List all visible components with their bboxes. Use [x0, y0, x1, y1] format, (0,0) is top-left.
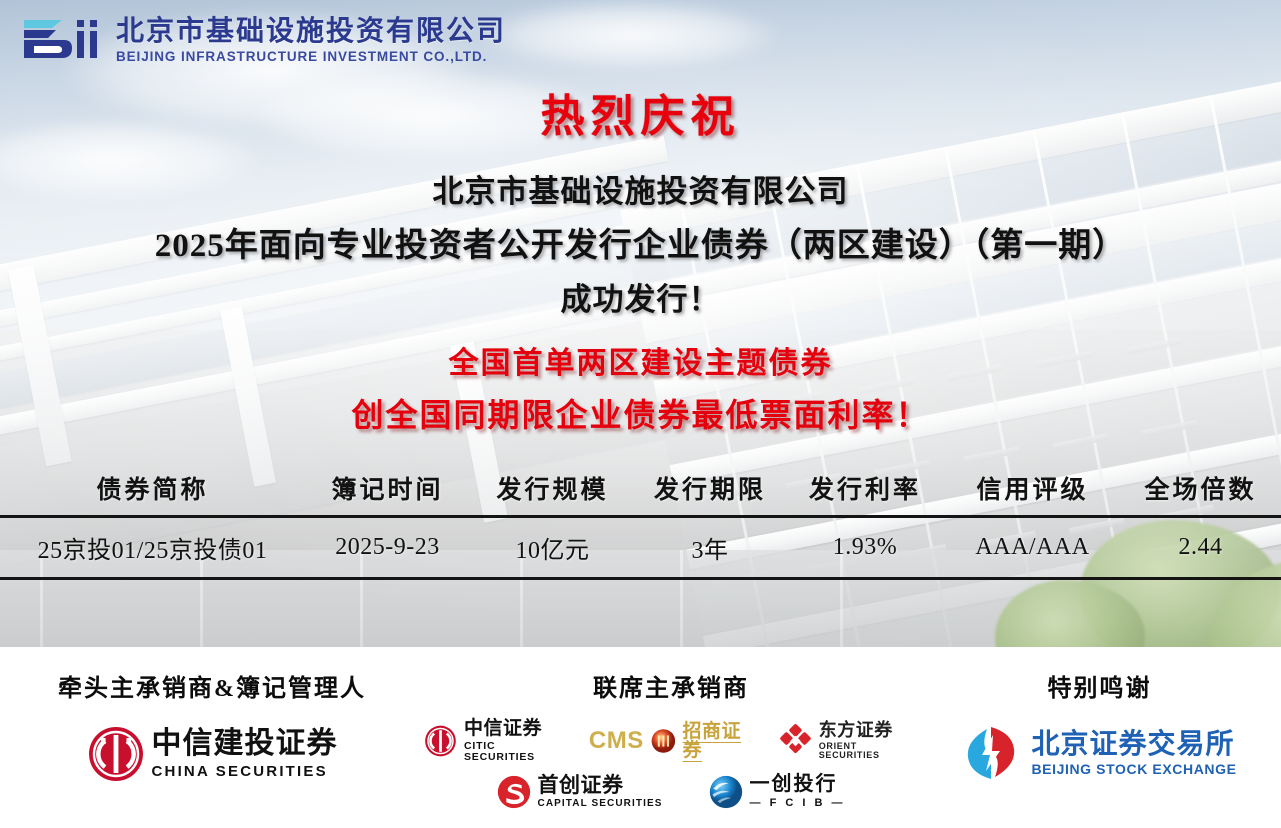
table-cell-bid-cover: 2.44: [1120, 516, 1281, 578]
footer-title-lead: 牵头主承销商&簿记管理人: [0, 647, 424, 703]
citic-securities-seal-icon: [87, 725, 145, 783]
headline-line-3: 成功发行！: [0, 274, 1281, 319]
bii-logo-icon: [22, 16, 100, 64]
logo-label-cms: CMS: [589, 727, 644, 755]
table-header-row: 债券简称 簿记时间 发行规模 发行期限 发行利率 信用评级 全场倍数: [0, 462, 1281, 516]
table-header-cell: 发行规模: [470, 462, 635, 516]
logo-label-en: BEIJING STOCK EXCHANGE: [1031, 762, 1236, 776]
bond-issuance-celebration-poster: 北京市基础设施投资有限公司 BEIJING INFRASTRUCTURE INV…: [0, 0, 1281, 828]
logo-label-cn: 招商证券: [682, 722, 756, 760]
table-header-cell: 全场倍数: [1120, 462, 1281, 516]
headline-line-1: 北京市基础设施投资有限公司: [0, 166, 1281, 211]
headline-line-2: 2025年面向专业投资者公开发行企业债券（两区建设）（第一期）: [0, 218, 1281, 266]
logo-label-cn: 中信建投证券: [152, 729, 338, 759]
logo-label-en: — F C I B —: [750, 798, 846, 809]
company-name-en: BEIJING INFRASTRUCTURE INVESTMENT CO.,LT…: [116, 50, 506, 64]
logo-label-cn: 首创证券: [538, 775, 663, 796]
company-name-cn: 北京市基础设施投资有限公司: [116, 17, 506, 45]
table-header-cell: 发行期限: [635, 462, 785, 516]
logo-citic-securities: 中信证券 CITIC SECURITIES: [424, 719, 567, 762]
logo-fcib: 一创投行 — F C I B —: [709, 774, 846, 809]
logo-beijing-stock-exchange: 北京证券交易所 BEIJING STOCK EXCHANGE: [962, 725, 1236, 781]
highlight-line-1: 全国首单两区建设主题债券: [0, 338, 1281, 382]
table-cell-tenor: 3年: [635, 516, 785, 578]
table-cell-bond-name: 25京投01/25京投债01: [0, 516, 305, 578]
logo-label-cn: 一创投行: [750, 774, 846, 794]
citic-seal-icon: [424, 724, 457, 758]
table-cell-book-date: 2025-9-23: [305, 516, 470, 578]
logo-label-en: CHINA SECURITIES: [152, 764, 338, 779]
footer-column-lead-underwriter: 牵头主承销商&簿记管理人 中信建投证券 CHINA SECURITIES: [0, 647, 424, 828]
logo-capital-securities: 首创证券 CAPITAL SECURITIES: [497, 775, 663, 809]
table-cell-issue-size: 10亿元: [470, 516, 635, 578]
table-cell-coupon-rate: 1.93%: [785, 516, 945, 578]
bse-bolt-icon: [962, 725, 1020, 781]
logo-orient-securities: 东方证券 ORIENT SECURITIES: [779, 721, 918, 760]
table-row: 25京投01/25京投债01 2025-9-23 10亿元 3年 1.93% A…: [0, 516, 1281, 578]
company-logo-text: 北京市基础设施投资有限公司 BEIJING INFRASTRUCTURE INV…: [116, 17, 506, 64]
logo-china-merchants-securities: CMS: [589, 722, 757, 760]
logo-label-cn: 东方证券: [819, 721, 918, 739]
footer-column-special-thanks: 特别鸣谢 北京证券交易所 BEIJING STOCK EXCHANGE: [918, 647, 1281, 828]
table-header-cell: 债券简称: [0, 462, 305, 516]
footer-underwriters: 牵头主承销商&簿记管理人 中信建投证券 CHINA SECURITIES: [0, 647, 1281, 828]
orient-diamond-icon: [779, 724, 812, 758]
table-header-cell: 簿记时间: [305, 462, 470, 516]
celebration-title: 热烈庆祝: [0, 80, 1281, 144]
bond-details-table: 债券简称 簿记时间 发行规模 发行期限 发行利率 信用评级 全场倍数 25京投0…: [0, 462, 1281, 580]
logo-label-en: ORIENT SECURITIES: [819, 742, 918, 760]
logo-label-en: CAPITAL SECURITIES: [538, 799, 663, 809]
logo-label-en: CITIC SECURITIES: [464, 741, 567, 762]
highlight-line-2: 创全国同期限企业债券最低票面利率！: [0, 390, 1281, 436]
company-logo-bar: 北京市基础设施投资有限公司 BEIJING INFRASTRUCTURE INV…: [0, 0, 1281, 80]
footer-column-joint-underwriters: 联席主承销商 中信证券 CITIC SECURITIES: [424, 647, 918, 828]
table-header-cell: 信用评级: [945, 462, 1120, 516]
logo-label-cn: 中信证券: [464, 719, 567, 738]
table-header-cell: 发行利率: [785, 462, 945, 516]
capital-s-icon: [497, 775, 531, 809]
footer-title-thanks: 特别鸣谢: [918, 647, 1281, 703]
fcib-globe-icon: [709, 775, 743, 809]
footer-title-joint: 联席主承销商: [424, 647, 918, 703]
cms-seal-icon: [651, 728, 676, 754]
logo-label-cn: 北京证券交易所: [1031, 730, 1236, 758]
logo-china-securities: 中信建投证券 CHINA SECURITIES: [87, 725, 338, 783]
table-cell-credit-rating: AAA/AAA: [945, 516, 1120, 578]
